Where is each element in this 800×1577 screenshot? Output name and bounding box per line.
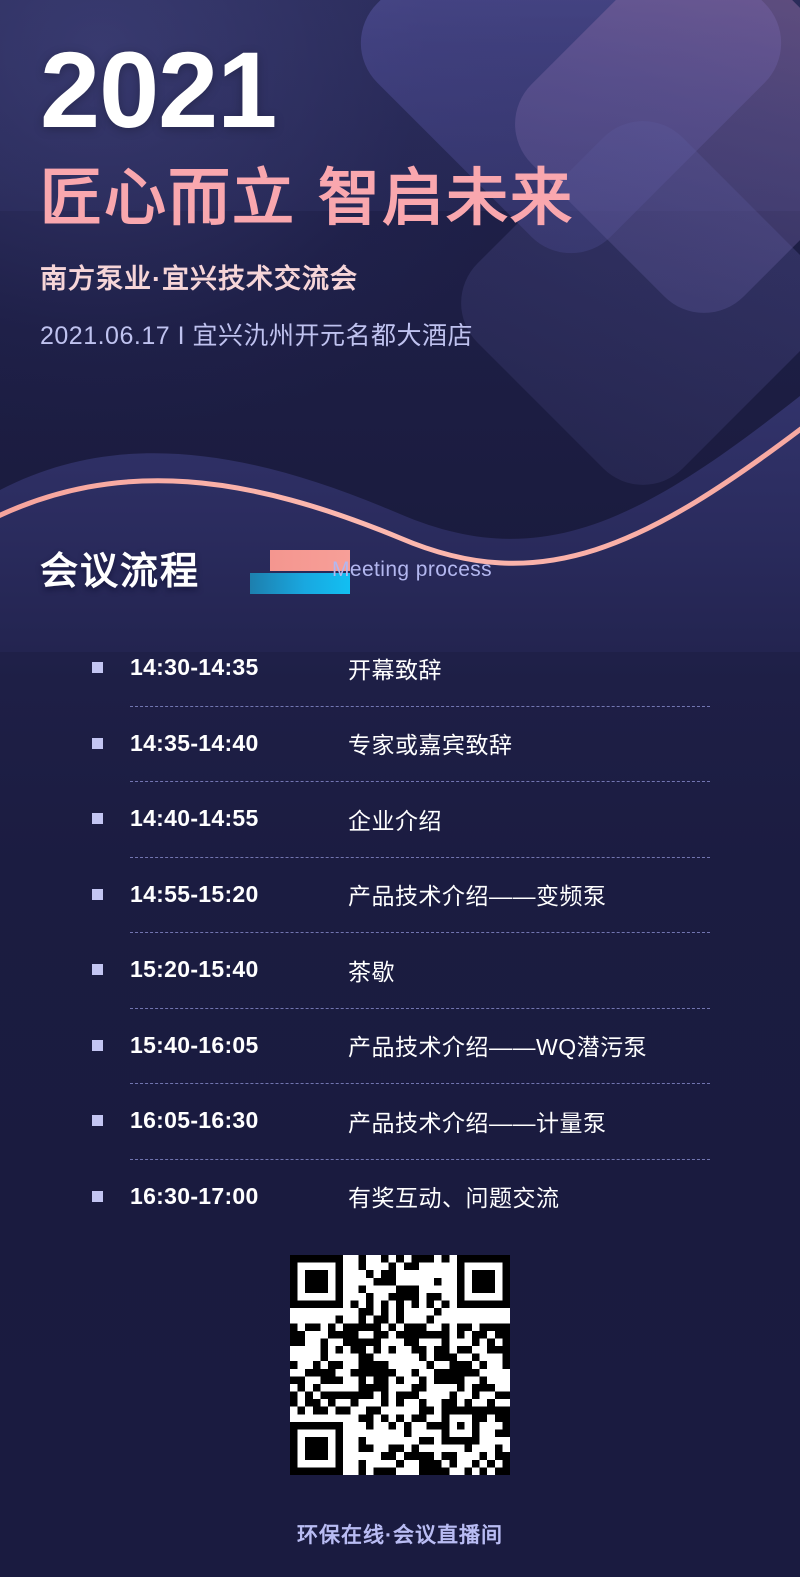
schedule-list: 14:30-14:35 开幕致辞 14:35-14:40 专家或嘉宾致辞 14:… [92, 630, 710, 1234]
main-headline: 匠心而立智启未来 [40, 166, 574, 231]
organizer-line: 南方泵业·宜兴技术交流会 [40, 257, 574, 296]
schedule-time: 15:40-16:05 [130, 1032, 348, 1059]
schedule-time: 14:30-14:35 [130, 654, 348, 681]
schedule-topic: 开幕致辞 [348, 651, 442, 685]
schedule-topic: 茶歇 [348, 953, 395, 987]
schedule-topic: 有奖互动、问题交流 [348, 1179, 560, 1213]
qr-code[interactable] [290, 1255, 510, 1475]
section-title-cn: 会议流程 [40, 540, 200, 595]
schedule-row: 16:30-17:00 有奖互动、问题交流 [92, 1159, 710, 1235]
bullet-square-icon [92, 662, 103, 673]
bullet-square-icon [92, 1040, 103, 1051]
schedule-row: 16:05-16:30 产品技术介绍——计量泵 [92, 1083, 710, 1159]
schedule-time: 15:20-15:40 [130, 956, 348, 983]
schedule-time: 16:30-17:00 [130, 1183, 348, 1210]
year-heading: 2021 [40, 36, 574, 144]
schedule-row: 14:55-15:20 产品技术介绍——变频泵 [92, 857, 710, 933]
schedule-row: 15:40-16:05 产品技术介绍——WQ潜污泵 [92, 1008, 710, 1084]
schedule-time: 14:55-15:20 [130, 881, 348, 908]
bullet-square-icon [92, 813, 103, 824]
section-title-en: Meeting process [332, 558, 492, 582]
bullet-square-icon [92, 738, 103, 749]
conference-poster: 2021 匠心而立智启未来 南方泵业·宜兴技术交流会 2021.06.17 I … [0, 0, 800, 1577]
schedule-topic: 产品技术介绍——计量泵 [348, 1104, 607, 1138]
schedule-topic: 产品技术介绍——变频泵 [348, 877, 607, 911]
poster-header: 2021 匠心而立智启未来 南方泵业·宜兴技术交流会 2021.06.17 I … [40, 0, 574, 352]
schedule-row: 15:20-15:40 茶歇 [92, 932, 710, 1008]
schedule-row: 14:35-14:40 专家或嘉宾致辞 [92, 706, 710, 782]
bullet-square-icon [92, 1191, 103, 1202]
schedule-topic: 产品技术介绍——WQ潜污泵 [348, 1028, 647, 1062]
headline-left: 匠心而立 [40, 164, 296, 233]
qr-caption: 环保在线·会议直播间 [297, 1519, 503, 1549]
bullet-square-icon [92, 964, 103, 975]
bullet-square-icon [92, 1115, 103, 1126]
schedule-row: 14:30-14:35 开幕致辞 [92, 630, 710, 706]
bullet-square-icon [92, 889, 103, 900]
schedule-topic: 专家或嘉宾致辞 [348, 726, 513, 760]
section-heading: 会议流程 Meeting process [40, 536, 760, 606]
headline-right: 智启未来 [318, 164, 574, 233]
schedule-row: 14:40-14:55 企业介绍 [92, 781, 710, 857]
schedule-time: 14:35-14:40 [130, 730, 348, 757]
qr-section: 环保在线·会议直播间 [0, 1255, 800, 1549]
schedule-topic: 企业介绍 [348, 802, 442, 836]
datetime-venue-line: 2021.06.17 I 宜兴氿州开元名都大酒店 [40, 316, 574, 352]
schedule-time: 16:05-16:30 [130, 1107, 348, 1134]
schedule-time: 14:40-14:55 [130, 805, 348, 832]
